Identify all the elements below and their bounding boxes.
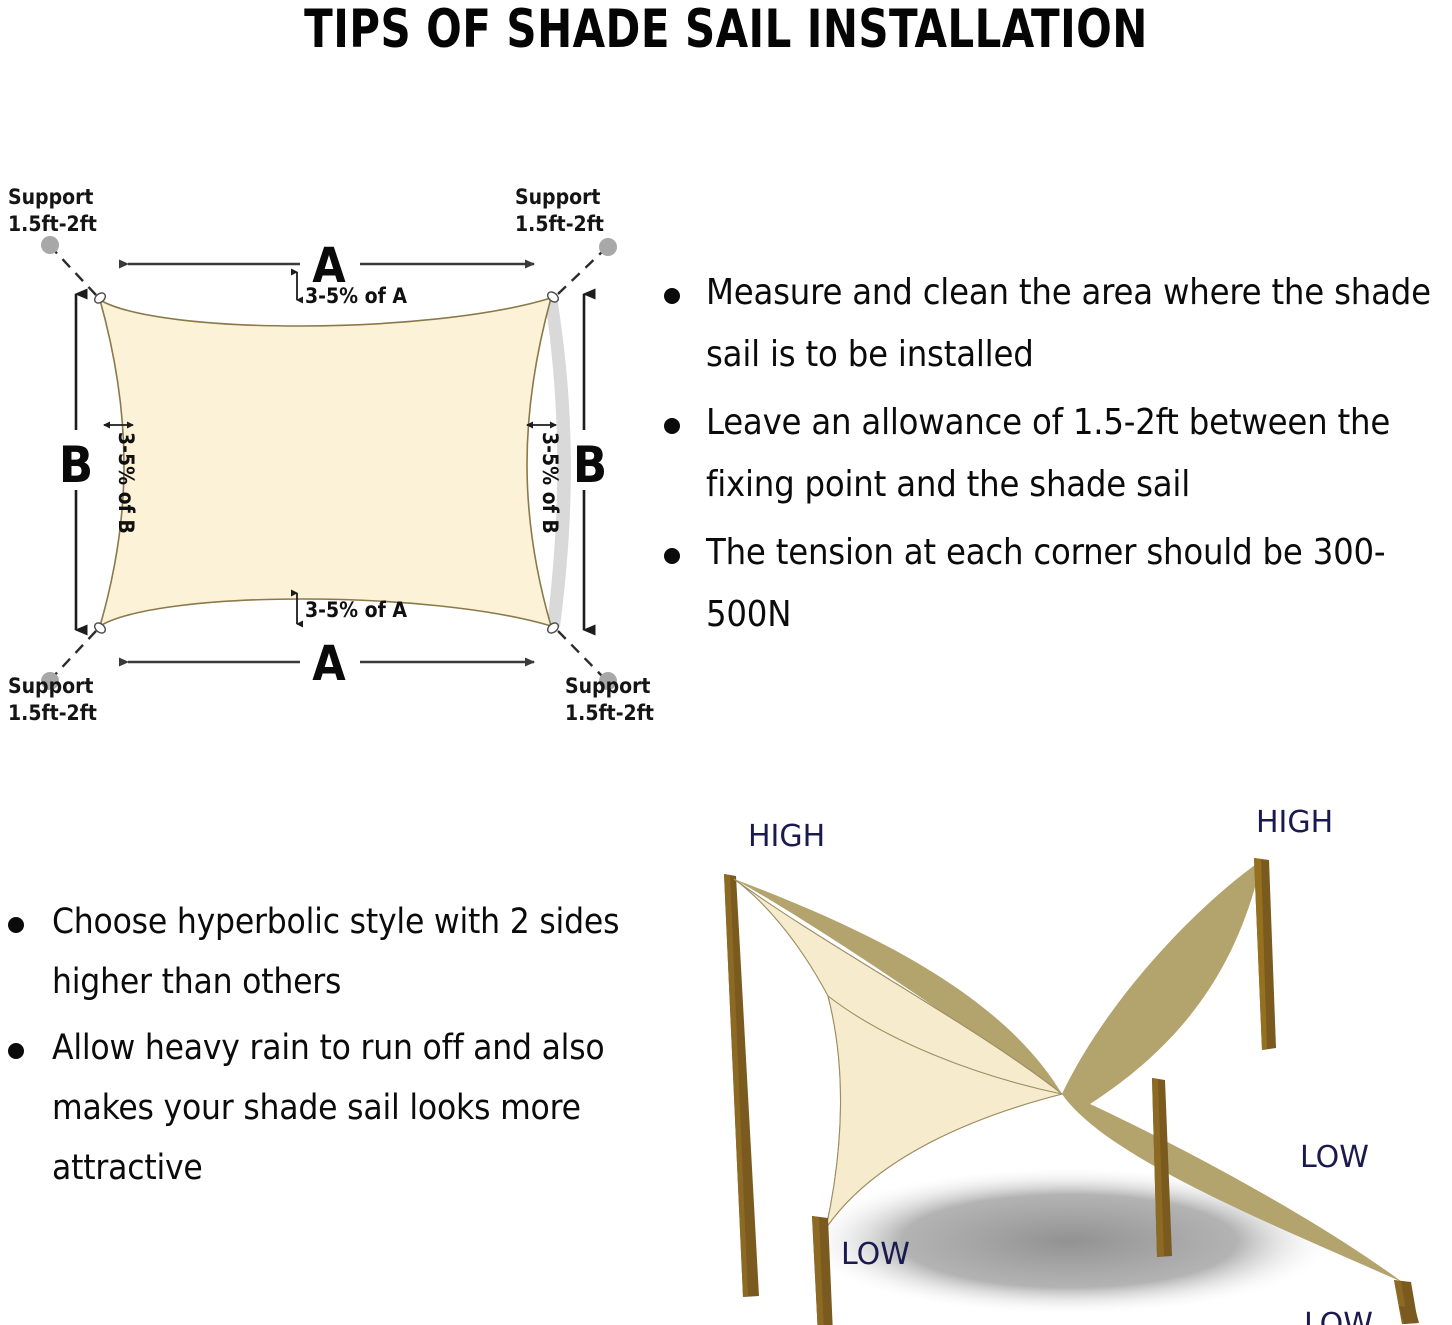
page-title: TIPS OF SHADE SAIL INSTALLATION (87, 0, 1365, 64)
installation-tips-block: Measure and clean the area where the sha… (648, 262, 1452, 652)
dimension-b-left-label: B (59, 436, 93, 494)
support-label-top-left-line2: 1.5ft-2ft (8, 212, 97, 236)
support-label-bottom-left-line2: 1.5ft-2ft (8, 701, 97, 725)
callout-top-curve-label: 3-5% of A (305, 284, 407, 308)
support-label-bottom-right-line1: Support (565, 674, 650, 698)
sail-body (100, 298, 551, 626)
installation-tips-list: Measure and clean the area where the sha… (648, 262, 1452, 646)
hyperbolic-sail-diagram: HIGH HIGH LOW LOW (676, 786, 1452, 1325)
support-label-top-right-line2: 1.5ft-2ft (515, 212, 604, 236)
support-label-top-right-line1: Support (515, 185, 600, 209)
support-label-top-left-line1: Support (8, 185, 93, 209)
pole-high-left (724, 874, 759, 1297)
hyperbolic-tips-list: Choose hyperbolic style with 2 sides hig… (0, 892, 620, 1198)
hyperbolic-tips-block: Choose hyperbolic style with 2 sides hig… (0, 892, 620, 1204)
dimension-a-bottom-label: A (312, 636, 346, 692)
support-label-bottom-right-line2: 1.5ft-2ft (565, 701, 654, 725)
label-low-right-text: LOW (1300, 1140, 1369, 1175)
label-low-right-overlay: LOW (1300, 1140, 1369, 1175)
dimension-b-right-label: B (573, 436, 607, 494)
list-item: Choose hyperbolic style with 2 sides hig… (0, 892, 620, 1012)
list-item: The tension at each corner should be 300… (648, 522, 1452, 646)
callout-right-curve-label: 3-5% of B (538, 432, 562, 534)
label-low-right: LOW (1304, 1307, 1373, 1325)
callout-bottom-curve-label: 3-5% of A (305, 598, 407, 622)
support-label-bottom-left-line1: Support (8, 674, 93, 698)
list-item: Leave an allowance of 1.5-2ft between th… (648, 392, 1452, 516)
label-high-right: HIGH (1256, 805, 1333, 840)
pole-high-right (1254, 858, 1276, 1050)
callout-left-curve-label: 3-5% of B (114, 432, 138, 534)
rect-sail-diagram: Support 1.5ft-2ft Support 1.5ft-2ft Supp… (0, 160, 660, 740)
label-high-left: HIGH (748, 819, 825, 854)
label-low-left: LOW (841, 1237, 910, 1272)
list-item: Measure and clean the area where the sha… (648, 262, 1452, 386)
list-item: Allow heavy rain to run off and also mak… (0, 1018, 620, 1198)
